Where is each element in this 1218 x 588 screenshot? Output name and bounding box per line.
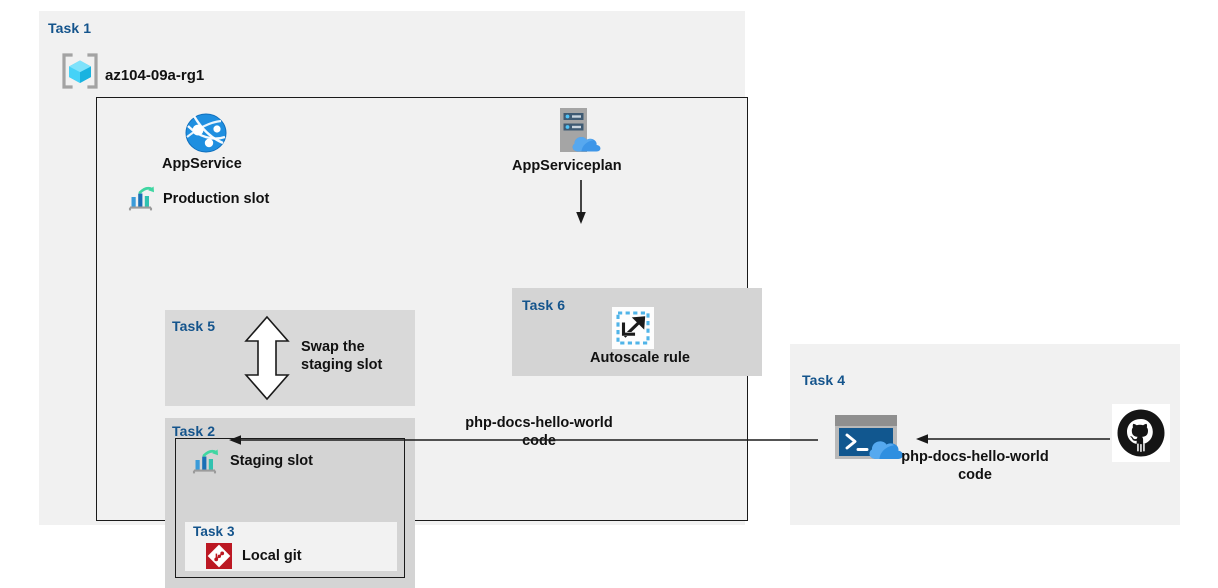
task3-panel: Task 3 xyxy=(185,522,397,571)
appserviceplan-label: AppServiceplan xyxy=(512,158,622,174)
task4-arrow-label: php-docs-hello-worldcode xyxy=(830,448,1120,484)
appserviceplan-to-autoscale-arrow xyxy=(574,180,588,226)
task5-label: Task 5 xyxy=(172,318,215,334)
task5-panel: Task 5 Swap thestaging slot xyxy=(165,310,415,406)
task5-swap-text: Swap thestaging slot xyxy=(301,338,411,374)
task3-label: Task 3 xyxy=(193,524,235,539)
git-logo-icon xyxy=(206,543,232,569)
task6-panel: Task 6 Autoscale rule xyxy=(512,288,762,376)
appservice-label: AppService xyxy=(162,156,242,172)
deployment-slot-icon xyxy=(192,448,220,476)
task1-label: Task 1 xyxy=(48,20,91,36)
production-slot-label: Production slot xyxy=(163,191,269,207)
task5-swap-line2: staging slot xyxy=(301,357,382,373)
local-git-label: Local git xyxy=(242,548,302,564)
task2-label: Task 2 xyxy=(172,423,215,439)
task2-inner-box: Staging slot Task 3 xyxy=(175,438,405,578)
staging-slot-label: Staging slot xyxy=(230,453,313,469)
task5-swap-line1: Swap the xyxy=(301,339,365,355)
cloudshell-to-localgit-arrow xyxy=(228,433,818,447)
deployment-slot-icon xyxy=(128,185,156,213)
resource-group-name: az104-09a-rg1 xyxy=(105,67,204,84)
autoscale-rule-label: Autoscale rule xyxy=(590,350,690,366)
autoscale-rule-icon xyxy=(612,307,654,349)
task4-arrow-label-line1: php-docs-hello-world xyxy=(901,449,1048,465)
task1-panel: Task 1 az104-09a-rg1 AppS xyxy=(39,11,745,525)
github-to-cloudshell-arrow xyxy=(915,432,1110,446)
resource-group-boundary-box: AppService Production slot Task 5 Swap t… xyxy=(96,97,748,521)
task4-label: Task 4 xyxy=(802,372,845,388)
task6-label: Task 6 xyxy=(522,297,565,313)
center-arrow-label-line1: php-docs-hello-world xyxy=(465,415,612,431)
diagram-canvas: Task 1 az104-09a-rg1 AppS xyxy=(0,0,1218,545)
app-service-globe-icon xyxy=(185,112,227,154)
task4-arrow-label-line2: code xyxy=(958,467,992,483)
resource-group-cube-icon xyxy=(59,52,101,90)
task4-panel: Task 4 php-docs-hello- xyxy=(790,344,1180,525)
swap-double-arrow-icon xyxy=(243,315,291,401)
github-octocat-icon xyxy=(1112,404,1170,462)
app-service-plan-icon xyxy=(549,104,607,156)
